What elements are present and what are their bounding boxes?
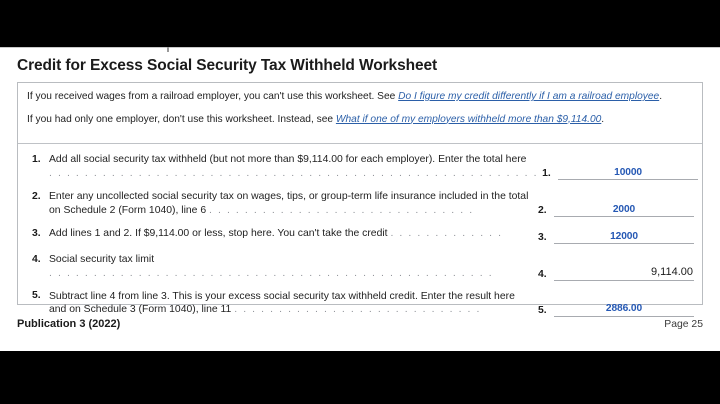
worksheet-line-2: 2. Enter any uncollected social security… — [18, 190, 702, 217]
line-3-value: 12000 — [554, 231, 694, 242]
line-5-input[interactable]: 2886.00 — [554, 300, 694, 317]
line-4-preprinted-amount: 9,114.00 — [554, 264, 694, 281]
worksheet-line-1: 1. Add all social security tax withheld … — [18, 153, 702, 180]
worksheet-line-5: 5. Subtract line 4 from line 3. This is … — [18, 290, 702, 317]
footer-publication: Publication 3 (2022) — [17, 318, 120, 330]
line-4-text: Social security tax limit . . . . . . . … — [49, 253, 538, 280]
line-5-leader: . . . . . . . . . . . . . . . . . . . . … — [234, 304, 481, 315]
footer-page-number: Page 25 — [664, 319, 703, 330]
line-2-value: 2000 — [554, 204, 694, 215]
worksheet-notes: If you received wages from a railroad em… — [18, 83, 702, 132]
note-1-text-before: If you received wages from a railroad em… — [27, 91, 398, 102]
letterbox-bottom-bar — [0, 351, 720, 404]
line-1-leader: . . . . . . . . . . . . . . . . . . . . … — [49, 168, 538, 179]
line-3-answer-number: 3. — [538, 232, 554, 244]
line-2-leader: . . . . . . . . . . . . . . . . . . . . … — [209, 205, 474, 216]
worksheet-box: If you received wages from a railroad em… — [17, 82, 703, 305]
note-1-text-after: . — [659, 91, 662, 102]
line-5-value: 2886.00 — [554, 303, 694, 314]
worksheet-note-railroad: If you received wages from a railroad em… — [27, 90, 693, 104]
line-2-text: Enter any uncollected social security ta… — [49, 190, 538, 217]
line-1-description: Add all social security tax withheld (bu… — [49, 154, 526, 165]
page-top-seam — [0, 47, 720, 48]
worksheet-line-4: 4. Social security tax limit . . . . . .… — [18, 253, 702, 280]
line-5-answer-number: 5. — [538, 305, 554, 317]
seam-tick-mark — [167, 47, 169, 52]
line-1-value: 10000 — [558, 167, 698, 178]
line-2-answer-column: 2. 2000 — [538, 200, 694, 217]
line-2-input[interactable]: 2000 — [554, 200, 694, 217]
line-3-description: Add lines 1 and 2. If $9,114.00 or less,… — [49, 228, 388, 239]
line-4-description: Social security tax limit — [49, 254, 154, 265]
line-2-number: 2. — [32, 190, 49, 202]
note-1-link[interactable]: Do I figure my credit differently if I a… — [398, 91, 659, 102]
line-4-answer-number: 4. — [538, 269, 554, 281]
line-4-number: 4. — [32, 253, 49, 265]
letterbox-top-bar — [0, 0, 720, 47]
line-5-number: 5. — [32, 290, 49, 302]
line-5-answer-column: 5. 2886.00 — [538, 300, 694, 317]
line-1-input[interactable]: 10000 — [558, 163, 698, 180]
line-1-answer-number: 1. — [542, 168, 558, 180]
line-1-answer-column: 1. 10000 — [542, 163, 698, 180]
line-4-leader: . . . . . . . . . . . . . . . . . . . . … — [49, 268, 493, 279]
note-2-text-before: If you had only one employer, don't use … — [27, 114, 336, 125]
line-3-leader: . . . . . . . . . . . . . — [390, 228, 502, 239]
line-4-value: 9,114.00 — [554, 266, 694, 278]
worksheet-note-one-employer: If you had only one employer, don't use … — [27, 113, 693, 127]
line-1-text: Add all social security tax withheld (bu… — [49, 153, 542, 180]
note-2-text-after: . — [601, 114, 604, 125]
line-5-text: Subtract line 4 from line 3. This is you… — [49, 290, 538, 317]
line-1-number: 1. — [32, 153, 49, 165]
note-2-link[interactable]: What if one of my employers withheld mor… — [336, 114, 601, 125]
line-2-answer-number: 2. — [538, 205, 554, 217]
line-4-answer-column: 4. 9,114.00 — [538, 264, 694, 281]
worksheet-line-3: 3. Add lines 1 and 2. If $9,114.00 or le… — [18, 227, 702, 244]
worksheet-lines: 1. Add all social security tax withheld … — [18, 144, 702, 304]
page-title: Credit for Excess Social Security Tax Wi… — [17, 57, 437, 75]
line-3-input[interactable]: 12000 — [554, 227, 694, 244]
line-3-number: 3. — [32, 227, 49, 239]
line-3-answer-column: 3. 12000 — [538, 227, 694, 244]
document-page: Credit for Excess Social Security Tax Wi… — [0, 47, 720, 351]
line-3-text: Add lines 1 and 2. If $9,114.00 or less,… — [49, 227, 538, 241]
